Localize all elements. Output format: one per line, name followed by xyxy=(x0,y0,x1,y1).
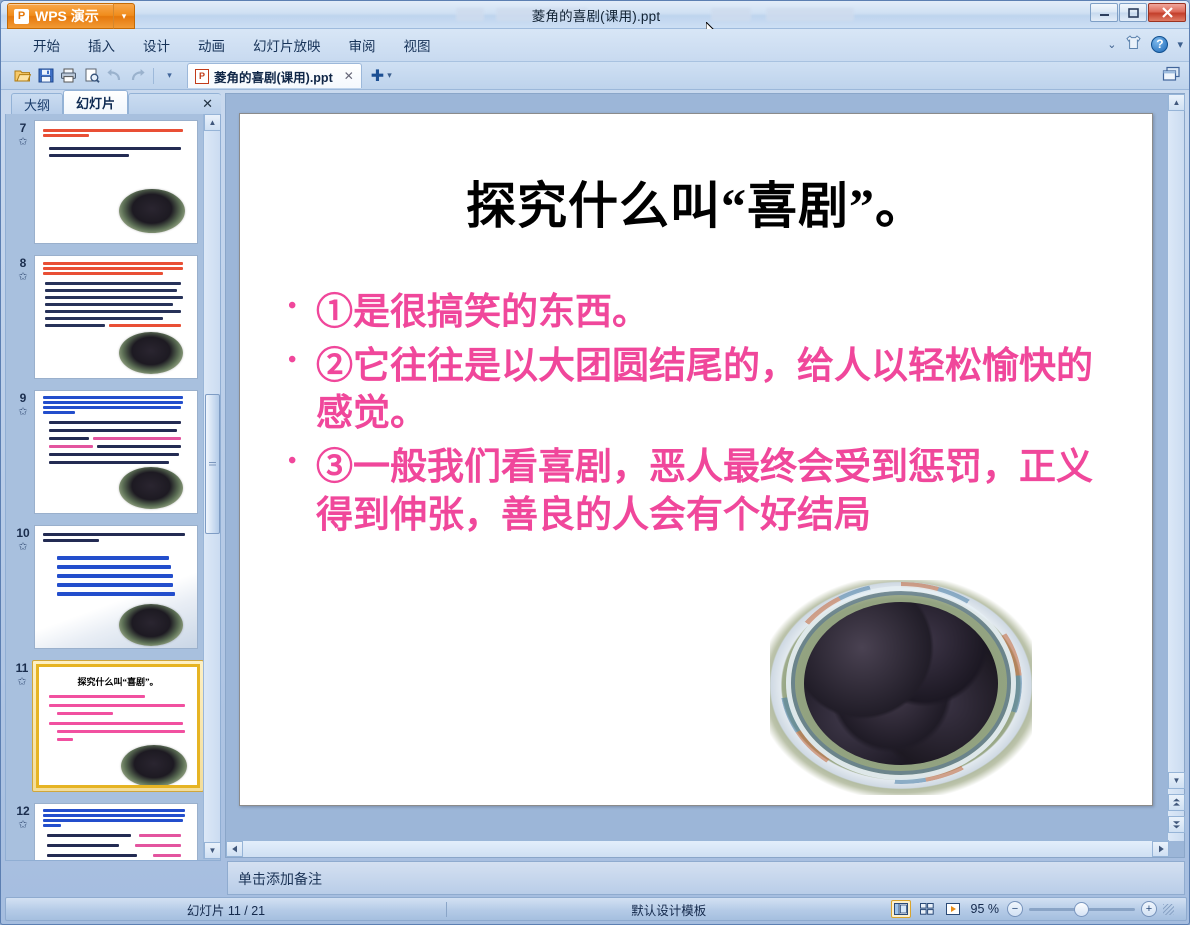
menu-item-slideshow[interactable]: 幻灯片放映 xyxy=(239,31,335,59)
slide-bullet-1-text: ①是很搞笑的东西。 xyxy=(316,289,1116,337)
thumbnail-list: 7 ✩ 8 ✩ xyxy=(6,114,204,861)
tab-slides[interactable]: 幻灯片 xyxy=(63,90,128,114)
maximize-icon xyxy=(1128,8,1139,18)
dropdown-icon[interactable]: ▾ xyxy=(1177,38,1183,51)
wps-logo-icon: P xyxy=(14,9,29,24)
ppt-file-icon: P xyxy=(195,69,209,84)
plus-icon: ✚ xyxy=(371,66,384,86)
customize-icon[interactable]: ▾ xyxy=(158,65,181,87)
new-tab-caret-icon[interactable]: ▾ xyxy=(387,70,392,81)
thumbnail-preview xyxy=(34,803,198,861)
slide-vertical-scrollbar[interactable]: ▲ ▼ xyxy=(1167,94,1184,841)
slide-bullet-2[interactable]: • ②它往往是以大团圆结尾的，给人以轻松愉快的感觉。 xyxy=(288,343,1116,438)
notes-pane[interactable]: 单击添加备注 xyxy=(227,861,1185,895)
panel-tab-filler: ✕ xyxy=(128,93,221,114)
thumbnail-preview xyxy=(34,525,198,649)
zoom-slider[interactable] xyxy=(1029,908,1135,911)
menu-item-view[interactable]: 视图 xyxy=(390,31,445,59)
new-tab-button[interactable]: ✚ ▾ xyxy=(367,64,396,87)
close-tab-icon[interactable]: ✕ xyxy=(344,69,354,83)
wps-app-button-label: WPS 演示 xyxy=(35,6,99,26)
minimize-icon xyxy=(1099,8,1110,17)
menu-item-review[interactable]: 审阅 xyxy=(335,31,390,59)
menu-item-design[interactable]: 设计 xyxy=(129,31,184,59)
wps-presentation-window: 菱角的喜剧(课用).ppt P WPS 演示 ▾ 开始 插入 设计 动画 幻灯片… xyxy=(0,0,1190,925)
document-tab[interactable]: P 菱角的喜剧(课用).ppt ✕ xyxy=(187,63,362,88)
animation-star-icon: ✩ xyxy=(12,676,32,689)
close-icon xyxy=(1161,7,1174,18)
thumbnail-area: 7 ✩ 8 ✩ xyxy=(5,114,221,861)
menu-item-animation[interactable]: 动画 xyxy=(184,31,239,59)
bullet-icon: • xyxy=(288,343,316,438)
window-title: 菱角的喜剧(课用).ppt xyxy=(1,1,1190,29)
panel-tabs: 大纲 幻灯片 ✕ xyxy=(5,90,221,114)
wps-app-menu-caret[interactable]: ▾ xyxy=(113,3,135,29)
list-item[interactable]: 8 ✩ xyxy=(12,255,204,379)
menu-bar: 开始 插入 设计 动画 幻灯片放映 审阅 视图 ⌄ ? ▾ xyxy=(1,29,1190,62)
zoom-level-label: 95 % xyxy=(969,902,1002,916)
status-right-tools: 95 % − + xyxy=(891,900,1187,918)
slide-editing-area: 探究什么叫“喜剧”。 • ①是很搞笑的东西。 • ②它往往是以大团圆结尾的，给人… xyxy=(225,93,1185,858)
normal-view-button[interactable] xyxy=(891,900,911,918)
quick-access-toolbar: ▾ P 菱角的喜剧(课用).ppt ✕ ✚ ▾ xyxy=(1,62,1190,90)
qat-separator xyxy=(153,68,154,84)
thumbnail-title: 探究什么叫“喜剧”。 xyxy=(39,675,197,688)
thumbnail-preview xyxy=(34,390,198,514)
thumbnail-preview-current: 探究什么叫“喜剧”。 xyxy=(36,664,200,788)
slide-scroll-up-button[interactable]: ▲ xyxy=(1168,94,1185,111)
close-panel-icon[interactable]: ✕ xyxy=(202,96,213,112)
tshirt-skin-icon[interactable] xyxy=(1125,35,1142,53)
animation-star-icon: ✩ xyxy=(12,406,34,419)
slide-bullet-2-text: ②它往往是以大团圆结尾的，给人以轻松愉快的感觉。 xyxy=(316,343,1116,438)
slide-scroll-right-button[interactable] xyxy=(1152,841,1169,857)
slide-horizontal-scrollbar[interactable] xyxy=(226,840,1169,857)
list-item-selected[interactable]: 11 ✩ 探究什么叫“喜剧”。 xyxy=(12,660,204,792)
menu-item-home[interactable]: 开始 xyxy=(19,31,74,59)
minimize-button[interactable] xyxy=(1090,3,1118,22)
slide-navigator-panel: 大纲 幻灯片 ✕ 7 ✩ xyxy=(5,90,221,861)
slide-bullet-3-text: ③一般我们看喜剧，恶人最终会受到惩罚，正义得到伸张，善良的人会有个好结局 xyxy=(316,444,1116,539)
list-item[interactable]: 12 ✩ xyxy=(12,803,204,861)
water-chestnuts-photo[interactable] xyxy=(770,580,1032,795)
animation-star-icon: ✩ xyxy=(12,819,34,832)
slide-title[interactable]: 探究什么叫“喜剧”。 xyxy=(240,166,1152,238)
slide-scroll-left-button[interactable] xyxy=(226,841,243,857)
undo-icon[interactable] xyxy=(103,65,126,87)
next-slide-button[interactable] xyxy=(1168,816,1185,833)
resize-grip-icon[interactable] xyxy=(1163,904,1174,915)
list-item[interactable]: 9 ✩ xyxy=(12,390,204,514)
zoom-out-button[interactable]: − xyxy=(1007,901,1023,917)
print-preview-icon[interactable] xyxy=(80,65,103,87)
thumbnail-number: 8 ✩ xyxy=(12,255,34,283)
thumbnail-number: 9 ✩ xyxy=(12,390,34,418)
slide-counter: 幻灯片 11 / 21 xyxy=(6,900,446,919)
animation-star-icon: ✩ xyxy=(12,271,34,284)
animation-star-icon: ✩ xyxy=(12,136,34,149)
thumbnail-preview xyxy=(34,120,198,244)
thumbnail-number: 11 ✩ xyxy=(12,660,32,688)
design-template-label[interactable]: 默认设计模板 xyxy=(447,900,891,919)
menu-item-insert[interactable]: 插入 xyxy=(74,31,129,59)
bullet-icon: • xyxy=(288,444,316,539)
document-tab-label: 菱角的喜剧(课用).ppt xyxy=(214,67,333,86)
thumbnail-preview xyxy=(34,255,198,379)
save-icon[interactable] xyxy=(34,65,57,87)
status-bar: 幻灯片 11 / 21 默认设计模板 95 % − + xyxy=(5,897,1187,921)
animation-star-icon: ✩ xyxy=(12,541,34,554)
scrollbar-thumb[interactable] xyxy=(205,394,220,534)
scrollbar-grip-icon xyxy=(209,462,216,467)
slideshow-view-button[interactable] xyxy=(943,900,963,918)
bullet-icon: • xyxy=(288,289,316,337)
water-chestnuts-pile xyxy=(804,602,998,765)
thumbnail-number: 12 ✩ xyxy=(12,803,34,831)
previous-slide-button[interactable] xyxy=(1168,794,1185,811)
slide-sorter-view-button[interactable] xyxy=(917,900,937,918)
wps-app-button[interactable]: P WPS 演示 xyxy=(7,3,119,29)
restore-window-icon[interactable] xyxy=(1162,66,1181,85)
redo-icon[interactable] xyxy=(126,65,149,87)
help-icon[interactable]: ? xyxy=(1151,36,1168,53)
scroll-up-button[interactable]: ▲ xyxy=(204,114,221,131)
slide-scroll-down-button[interactable]: ▼ xyxy=(1168,772,1185,789)
menu-bar-right-tools: ⌄ ? ▾ xyxy=(1107,35,1183,53)
thumbnail-number: 7 ✩ xyxy=(12,120,34,148)
chevron-down-icon[interactable]: ⌄ xyxy=(1107,38,1116,51)
close-button[interactable] xyxy=(1148,3,1186,22)
slide-bullet-1[interactable]: • ①是很搞笑的东西。 xyxy=(288,289,1116,337)
list-item[interactable]: 10 ✩ xyxy=(12,525,204,649)
title-bar: 菱角的喜剧(课用).ppt P WPS 演示 ▾ xyxy=(1,1,1190,29)
slide-body-text[interactable]: • ①是很搞笑的东西。 • ②它往往是以大团圆结尾的，给人以轻松愉快的感觉。 •… xyxy=(288,289,1116,546)
maximize-button[interactable] xyxy=(1119,3,1147,22)
list-item[interactable]: 7 ✩ xyxy=(12,120,204,244)
tab-outline[interactable]: 大纲 xyxy=(11,93,63,114)
slide-canvas[interactable]: 探究什么叫“喜剧”。 • ①是很搞笑的东西。 • ②它往往是以大团圆结尾的，给人… xyxy=(239,113,1153,806)
thumbnail-scrollbar[interactable]: ▲ ▼ xyxy=(203,114,220,859)
open-icon[interactable] xyxy=(11,65,34,87)
slide-bullet-3[interactable]: • ③一般我们看喜剧，恶人最终会受到惩罚，正义得到伸张，善良的人会有个好结局 xyxy=(288,444,1116,539)
thumbnail-number: 10 ✩ xyxy=(12,525,34,553)
window-controls xyxy=(1090,3,1186,22)
zoom-in-button[interactable]: + xyxy=(1141,901,1157,917)
zoom-slider-knob[interactable] xyxy=(1074,902,1089,917)
scroll-down-button[interactable]: ▼ xyxy=(204,842,221,859)
print-icon[interactable] xyxy=(57,65,80,87)
